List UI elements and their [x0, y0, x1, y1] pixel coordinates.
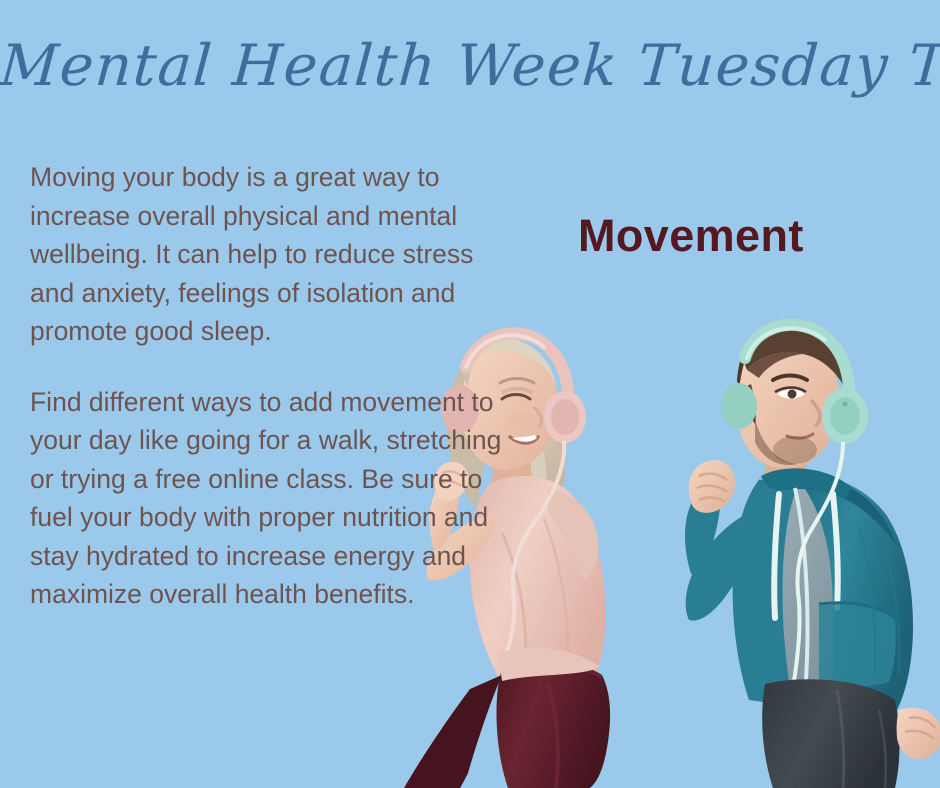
body-copy: Moving your body is a great way to incre… [30, 158, 522, 614]
movement-headline: Movement [578, 210, 804, 262]
poster-canvas: Mental Health Week Tuesday Tip Moving yo… [0, 0, 940, 788]
body-paragraph-1: Moving your body is a great way to incre… [30, 158, 522, 351]
body-paragraph-2: Find different ways to add movement to y… [30, 383, 522, 614]
page-title: Mental Health Week Tuesday Tip [0, 36, 940, 98]
